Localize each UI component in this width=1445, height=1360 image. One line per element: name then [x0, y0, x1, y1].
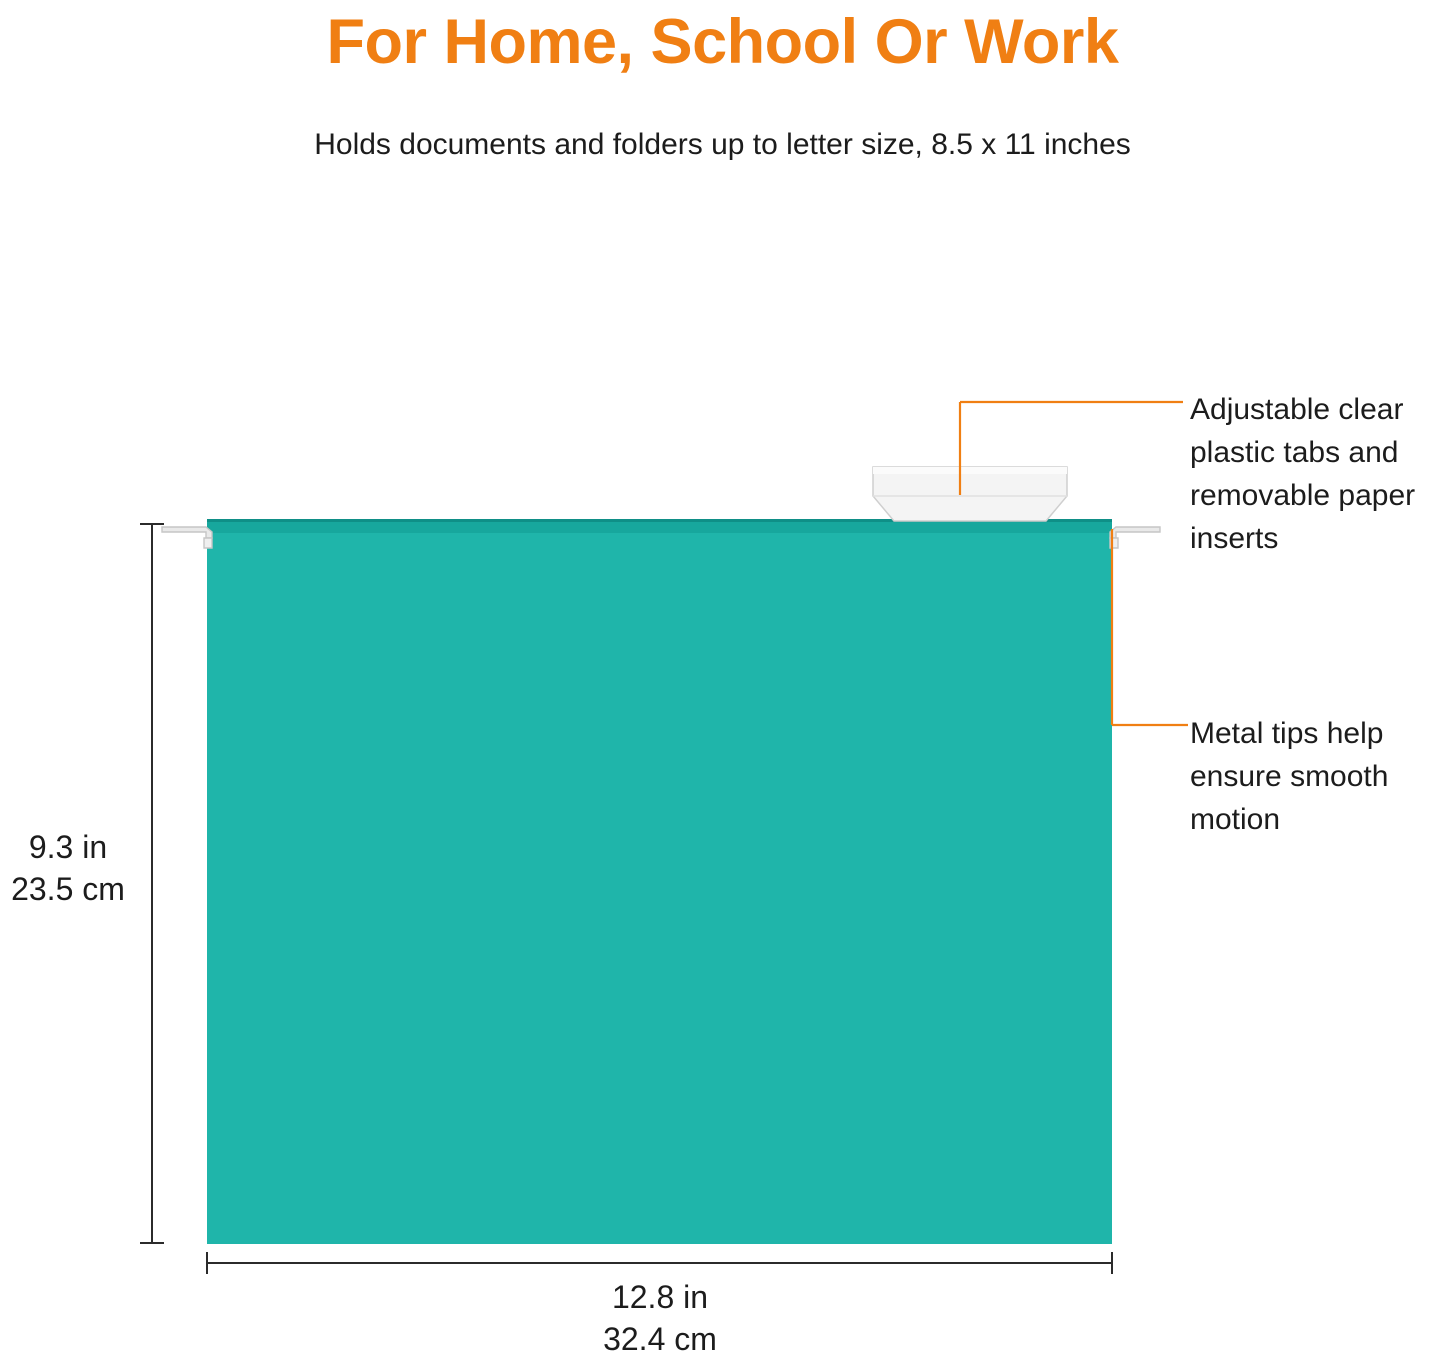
width-dimension-label: 12.8 in 32.4 cm: [207, 1276, 1113, 1360]
page-headline: For Home, School Or Work: [0, 6, 1445, 78]
height-dimension-line: [151, 523, 153, 1243]
height-dimension-cap-bottom: [140, 1242, 164, 1244]
width-dimension-line: [207, 1262, 1113, 1264]
folder-body: [207, 519, 1112, 1244]
height-metric-value: 23.5 cm: [0, 868, 136, 910]
metal-tip-left-icon: [160, 521, 218, 557]
callout-metal-tips: Metal tips help ensure smooth motion: [1190, 712, 1440, 841]
width-metric-value: 32.4 cm: [207, 1318, 1113, 1360]
height-dimension-label: 9.3 in 23.5 cm: [0, 826, 136, 910]
height-imperial-value: 9.3 in: [0, 826, 136, 868]
width-dimension-cap-left: [206, 1252, 208, 1274]
width-imperial-value: 12.8 in: [207, 1276, 1113, 1318]
width-dimension-cap-right: [1111, 1252, 1113, 1274]
callout-leader-tabs: [955, 390, 1195, 510]
height-dimension-cap-top: [140, 523, 164, 525]
page-subheadline: Holds documents and folders up to letter…: [0, 128, 1445, 162]
callout-adjustable-tabs: Adjustable clear plastic tabs and remova…: [1190, 388, 1445, 560]
callout-leader-metal-tips: [1108, 525, 1198, 740]
